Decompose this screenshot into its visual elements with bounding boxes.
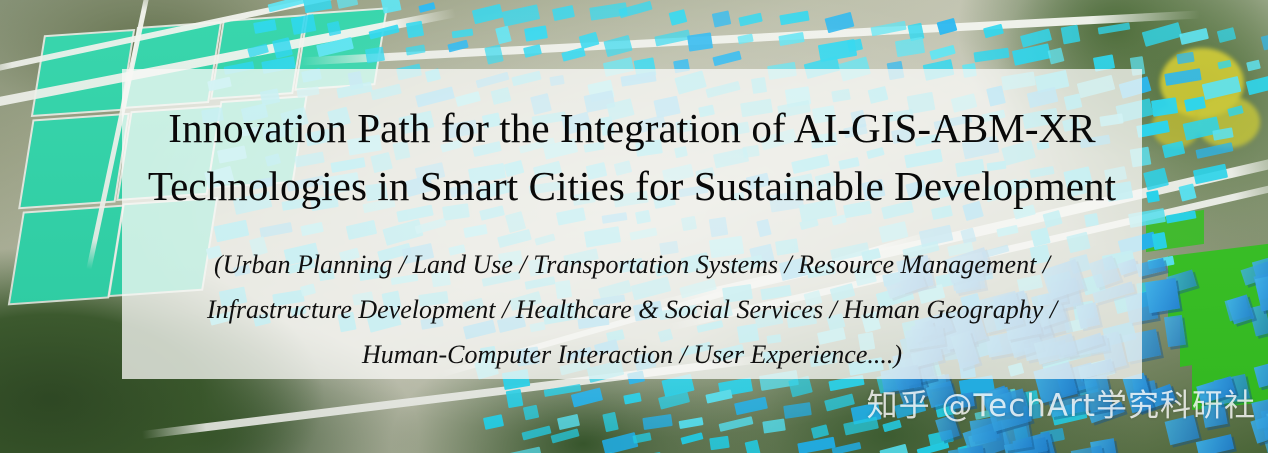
subtitle-line-1: (Urban Planning / Land Use / Transportat… [122, 243, 1142, 288]
subtitle-line-2: Infrastructure Development / Healthcare … [122, 288, 1142, 333]
title-line-1: Innovation Path for the Integration of A… [122, 99, 1142, 157]
title-overlay-panel: Innovation Path for the Integration of A… [122, 69, 1142, 379]
page-subtitle: (Urban Planning / Land Use / Transportat… [122, 243, 1142, 378]
title-line-2: Technologies in Smart Cities for Sustain… [122, 157, 1142, 215]
subtitle-line-3: Human-Computer Interaction / User Experi… [122, 333, 1142, 378]
hero-banner: Innovation Path for the Integration of A… [0, 0, 1268, 453]
page-title: Innovation Path for the Integration of A… [122, 99, 1142, 215]
